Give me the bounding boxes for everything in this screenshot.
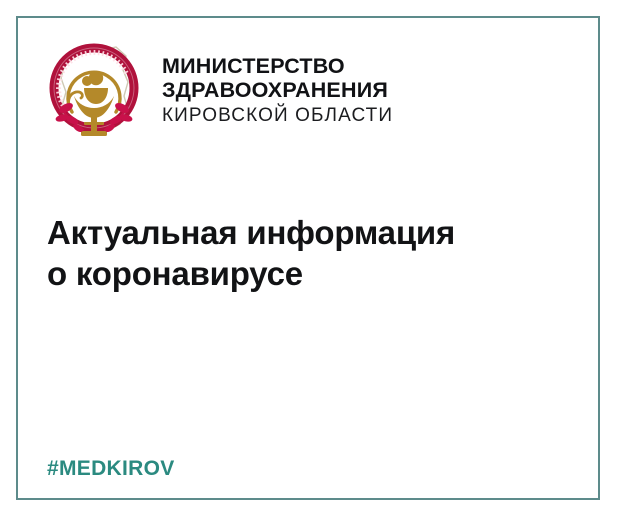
emblem-chalice-base [81,131,107,136]
emblem-chalice-collar [84,122,104,125]
ministry-wordmark: МИНИСТЕРСТВО ЗДРАВООХРАНЕНИЯ КИРОВСКОЙ О… [162,52,393,129]
ministry-emblem-icon [40,34,148,146]
page-title-line-2: о коронавирусе [47,254,567,295]
hashtag-medkirov: #MEDKIROV [47,457,175,481]
page-title: Актуальная информация о коронавирусе [47,213,567,295]
ministry-logo-lockup: МИНИСТЕРСТВО ЗДРАВООХРАНЕНИЯ КИРОВСКОЙ О… [40,34,393,146]
page-title-line-1: Актуальная информация [47,213,567,254]
slide-canvas: МИНИСТЕРСТВО ЗДРАВООХРАНЕНИЯ КИРОВСКОЙ О… [0,0,620,517]
emblem-figure-child-head [82,76,92,86]
ministry-line-2: ЗДРАВООХРАНЕНИЯ [162,78,393,103]
ministry-line-3: КИРОВСКОЙ ОБЛАСТИ [162,104,393,129]
ministry-line-1: МИНИСТЕРСТВО [162,54,393,79]
emblem-figure-body [84,88,108,104]
